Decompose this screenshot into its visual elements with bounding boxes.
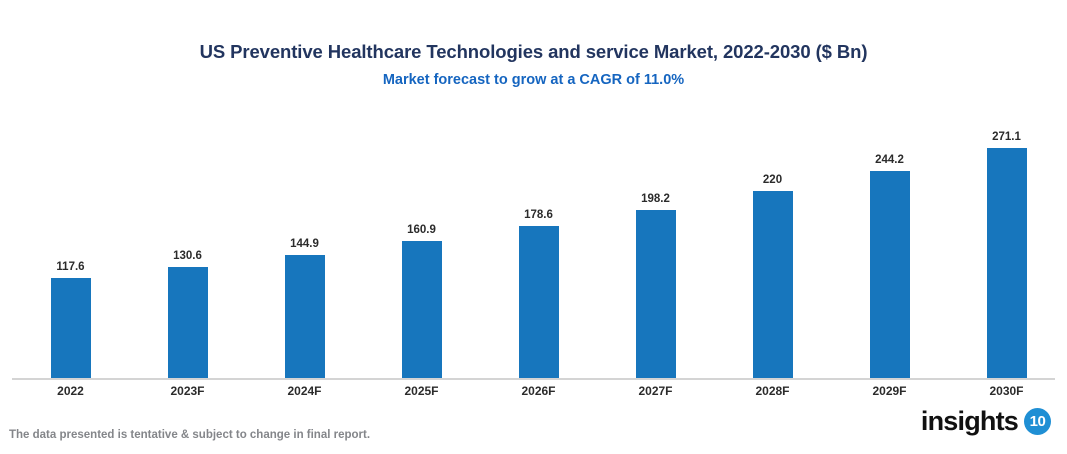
bar-value-label: 160.9 [407, 224, 436, 237]
plot-area: 117.6130.6144.9160.9178.6198.2220244.227… [12, 110, 1055, 378]
bar-2023F[interactable] [168, 267, 208, 378]
logo-wordmark: insights [921, 406, 1018, 436]
bar-slot: 271.1 [948, 110, 1065, 378]
chart-container: US Preventive Healthcare Technologies an… [0, 0, 1067, 454]
bar-slot: 144.9 [246, 110, 363, 378]
bar-2030F[interactable] [987, 148, 1027, 378]
bar-2025F[interactable] [402, 241, 442, 378]
x-axis-label-2026F: 2026F [480, 381, 597, 401]
bar-value-label: 198.2 [641, 193, 670, 206]
bar-2024F[interactable] [285, 255, 325, 378]
bar-2026F[interactable] [519, 226, 559, 378]
bar-value-label: 244.2 [875, 154, 904, 167]
x-axis-category-labels: 20222023F2024F2025F2026F2027F2028F2029F2… [12, 381, 1055, 403]
x-axis-label-2028F: 2028F [714, 381, 831, 401]
x-axis-label-2022: 2022 [12, 381, 129, 401]
chart-title: US Preventive Healthcare Technologies an… [0, 40, 1067, 64]
bar-slot: 160.9 [363, 110, 480, 378]
bar-slot: 244.2 [831, 110, 948, 378]
x-axis-line [12, 378, 1055, 380]
bar-slot: 117.6 [12, 110, 129, 378]
bar-value-label: 130.6 [173, 250, 202, 263]
x-axis-label-2024F: 2024F [246, 381, 363, 401]
bar-slot: 130.6 [129, 110, 246, 378]
x-axis-label-2029F: 2029F [831, 381, 948, 401]
chart-subtitle: Market forecast to grow at a CAGR of 11.… [0, 69, 1067, 91]
x-axis-label-2027F: 2027F [597, 381, 714, 401]
x-axis-label-2023F: 2023F [129, 381, 246, 401]
bar-2027F[interactable] [636, 210, 676, 378]
bar-slot: 198.2 [597, 110, 714, 378]
x-axis-label-2030F: 2030F [948, 381, 1065, 401]
bar-value-label: 178.6 [524, 209, 553, 222]
x-axis-label-2025F: 2025F [363, 381, 480, 401]
insights10-logo: insights 10 [921, 406, 1051, 436]
logo-badge-icon: 10 [1024, 408, 1051, 435]
bar-value-label: 271.1 [992, 131, 1021, 144]
bar-value-label: 144.9 [290, 238, 319, 251]
bar-slot: 178.6 [480, 110, 597, 378]
bar-value-label: 117.6 [56, 261, 84, 274]
bar-2022[interactable] [51, 278, 91, 378]
bar-2028F[interactable] [753, 191, 793, 378]
bar-slot: 220 [714, 110, 831, 378]
bar-value-label: 220 [763, 174, 782, 187]
bar-2029F[interactable] [870, 171, 910, 378]
footer-disclaimer: The data presented is tentative & subjec… [9, 429, 370, 441]
chart-header: US Preventive Healthcare Technologies an… [0, 40, 1067, 91]
